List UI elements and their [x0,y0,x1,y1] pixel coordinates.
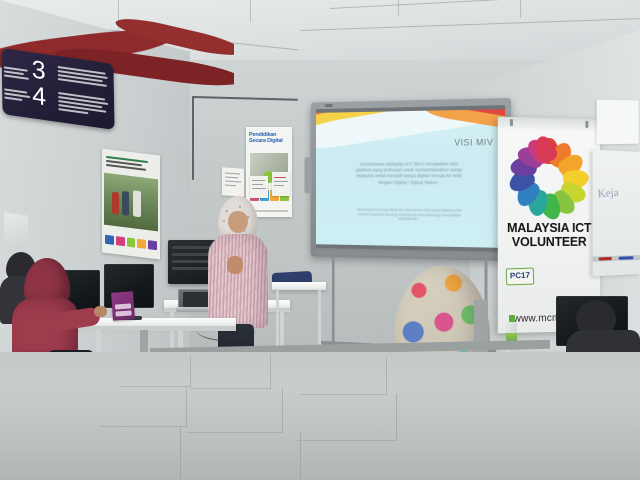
board-stand-left [332,254,335,345]
presenter-torso [208,234,268,328]
presentation-slide: VISI MIV Sukarelawan Malaysia ICT (MIV) … [316,109,505,248]
desk-flyer-left [111,291,135,320]
bottle-cap [509,315,515,322]
pinned-paper-b [250,176,268,198]
station-label-pc17: PC17 [506,268,535,286]
interactive-whiteboard[interactable]: VISI MIV Sukarelawan Malaysia ICT (MIV) … [311,98,511,261]
banner-title: MALAYSIA ICT VOLUNTEER [498,222,600,249]
participant-maroon-hand [94,306,107,317]
floor [0,352,640,480]
wall-mounted-box [4,212,28,249]
banner-title-line-2: VOLUNTEER [498,235,600,249]
slide-sub-text: Membangunkan tenaga digital dan minda li… [355,208,463,222]
slide-title: VISI MIV [454,137,493,147]
marker-blue-icon[interactable] [619,256,634,260]
wall-sign-number-3: 3 [32,57,46,84]
presenter-face [228,211,248,233]
pinned-paper-c [272,172,290,196]
side-table-leg-right [318,289,321,347]
left-wall-poster [102,148,160,259]
poster-notice-title-2: Secara Digital [249,138,289,144]
marker-red-icon[interactable] [599,256,612,260]
classroom-photo: 3 4 Pendid [0,0,640,480]
wall-sign-number-4: 4 [32,83,46,110]
whiteboard[interactable]: Keja [593,150,640,277]
board-side-control[interactable] [305,157,312,193]
malaysia-ict-volunteer-logo-icon [512,139,585,214]
presenter-hands [227,256,243,274]
whiteboard-scribble: Keja [597,187,619,200]
wall-cable-vertical [192,96,194,180]
slide-body-text: Sukarelawan Malaysia ICT (MIV) merupakan… [352,161,468,186]
pinned-paper-a [222,167,244,197]
right-wall-paper-sheet [597,100,639,145]
board-power-led [325,104,333,107]
banner-title-line-1: MALAYSIA ICT [498,222,600,236]
board-screen: VISI MIV Sukarelawan Malaysia ICT (MIV) … [316,105,505,252]
